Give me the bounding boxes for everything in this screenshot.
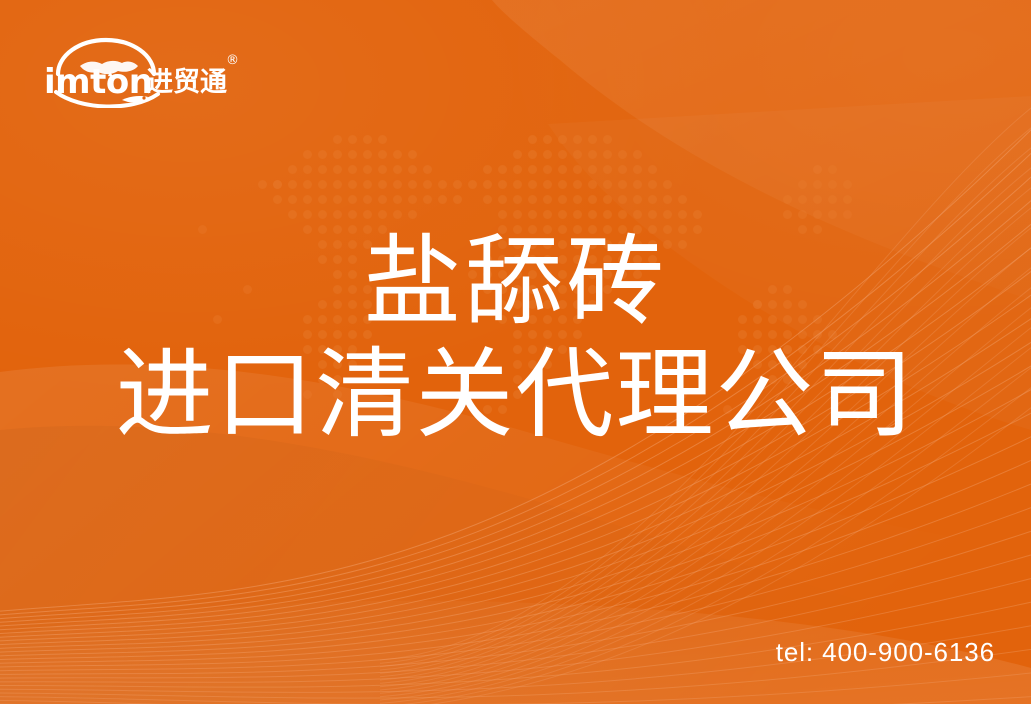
brand-logo[interactable]: imton 进贸通 ® — [40, 30, 255, 108]
contact-phone[interactable]: tel: 400-900-6136 — [776, 637, 995, 668]
trademark-icon: ® — [226, 53, 239, 68]
promo-banner: imton 进贸通 ® 盐舔砖 进口清关代理公司 tel: 400-900-61… — [0, 0, 1031, 704]
headline-line-2: 进口清关代理公司 — [0, 338, 1031, 454]
headline-block: 盐舔砖 进口清关代理公司 — [0, 228, 1031, 453]
headline-line-1: 盐舔砖 — [0, 228, 1031, 338]
